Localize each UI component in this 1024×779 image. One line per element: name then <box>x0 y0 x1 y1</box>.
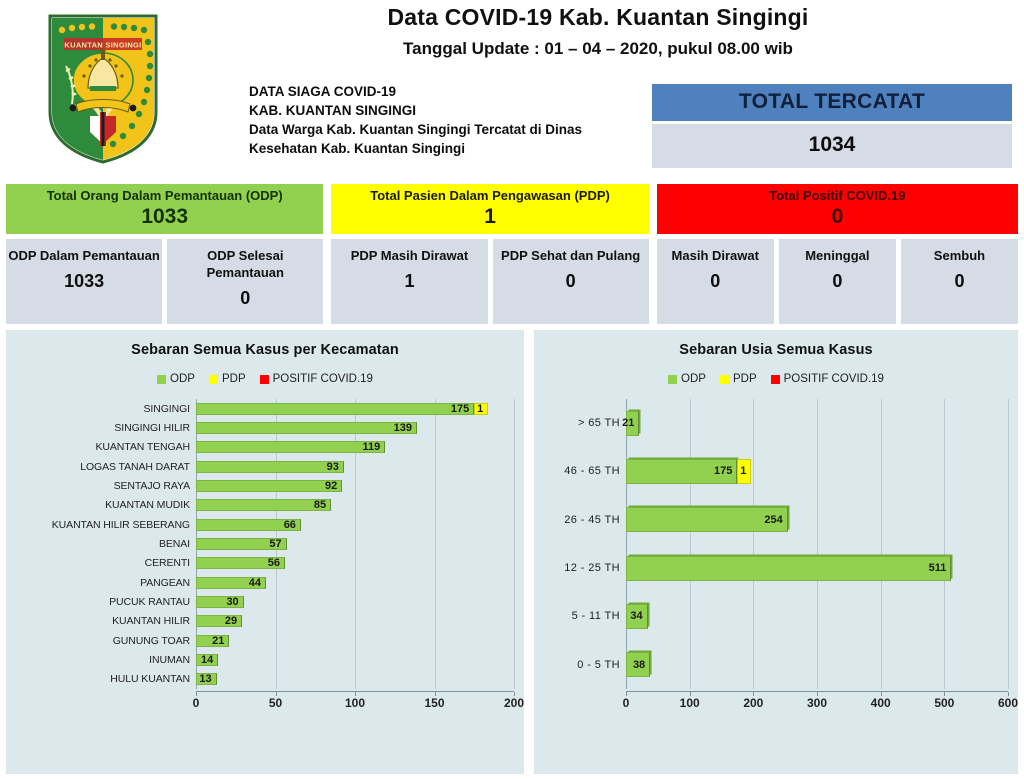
bar-value-label: 57 <box>269 538 281 550</box>
category-label: 26 - 45 TH <box>544 514 626 526</box>
bar-segment-odp: 92 <box>196 480 342 492</box>
sub-label: Meninggal <box>779 248 896 265</box>
kpi-header-odp: Total Orang Dalam Pemantauan (ODP) 1033 <box>6 184 323 234</box>
bar-value-label: 34 <box>630 610 642 622</box>
bar-segment-odp: 13 <box>196 673 217 685</box>
x-tick-label: 0 <box>193 696 200 710</box>
bar-segment-odp: 30 <box>196 596 244 608</box>
bar-value-label: 85 <box>314 499 326 511</box>
bar-row: INUMAN14 <box>16 650 514 669</box>
x-tick-label: 0 <box>623 696 630 710</box>
x-tick-label: 100 <box>680 696 700 710</box>
x-axis-usia: 0100200300400500600 <box>544 691 1008 718</box>
legend-label-pdp: PDP <box>733 373 757 385</box>
category-label: HULU KUANTAN <box>16 673 196 685</box>
bar-value-label: 511 <box>929 562 947 574</box>
legend-swatch-positif-icon <box>771 375 780 384</box>
x-axis-ticks-usia: 0100200300400500600 <box>626 691 1008 718</box>
bar-segment-odp: 254 <box>626 507 788 532</box>
bar-value-label: 29 <box>225 615 237 627</box>
category-label: SENTAJO RAYA <box>16 480 196 492</box>
legend-label-positif: POSITIF COVID.19 <box>273 373 373 385</box>
kpi-group-pdp: Total Pasien Dalam Pengawasan (PDP) 1 PD… <box>331 184 648 324</box>
x-tick-label: 200 <box>743 696 763 710</box>
plot-area-usia: > 65 TH2146 - 65 TH175126 - 45 TH25412 -… <box>544 399 1008 689</box>
description-line-2: KAB. KUANTAN SINGINGI <box>249 101 582 120</box>
x-tick-label: 200 <box>504 696 524 710</box>
category-label: 12 - 25 TH <box>544 562 626 574</box>
bar-segment-odp: 93 <box>196 461 344 473</box>
bar-segment-odp: 66 <box>196 519 301 531</box>
legend-item-positif: POSITIF COVID.19 <box>260 373 373 385</box>
bar-value-label: 1 <box>477 403 483 415</box>
description-line-1: DATA SIAGA COVID-19 <box>249 82 582 101</box>
bar-row: KUANTAN HILIR SEBERANG66 <box>16 515 514 534</box>
kpi-sub-odp-dalam-pemantauan: ODP Dalam Pemantauan 1033 <box>6 239 162 324</box>
bar-track: 21 <box>196 631 514 650</box>
bar-track: 21 <box>626 399 1008 447</box>
bar-row: 0 - 5 TH38 <box>544 641 1008 689</box>
x-tick-label: 50 <box>269 696 282 710</box>
bar-track: 44 <box>196 573 514 592</box>
bar-value-label: 56 <box>268 557 280 569</box>
bar-segment-odp: 85 <box>196 499 331 511</box>
bar-row: GUNUNG TOAR21 <box>16 631 514 650</box>
kpi-pdp-value: 1 <box>335 205 644 229</box>
x-tick-label: 600 <box>998 696 1018 710</box>
x-tick-label: 150 <box>424 696 444 710</box>
bar-track: 139 <box>196 418 514 437</box>
bar-track: 57 <box>196 534 514 553</box>
bar-row: SENTAJO RAYA92 <box>16 476 514 495</box>
bar-track: 29 <box>196 612 514 631</box>
svg-text:KUANTAN SINGINGI: KUANTAN SINGINGI <box>64 41 141 50</box>
kpi-sub-positif-masih-dirawat: Masih Dirawat 0 <box>657 239 774 324</box>
bar-value-label: 44 <box>249 577 261 589</box>
category-label: 46 - 65 TH <box>544 465 626 477</box>
bar-rows-usia: > 65 TH2146 - 65 TH175126 - 45 TH25412 -… <box>544 399 1008 689</box>
bar-segment-odp: 21 <box>196 635 229 647</box>
category-label: BENAI <box>16 538 196 550</box>
kpi-subs-odp: ODP Dalam Pemantauan 1033 ODP Selesai Pe… <box>6 239 323 324</box>
legend-label-odp: ODP <box>681 373 706 385</box>
description-block: DATA SIAGA COVID-19 KAB. KUANTAN SINGING… <box>249 82 582 159</box>
sub-value: 0 <box>901 271 1018 292</box>
sub-label: Masih Dirawat <box>657 248 774 265</box>
bar-track: 14 <box>196 650 514 669</box>
bar-segment-odp: 21 <box>626 411 639 436</box>
chart-title-kecamatan: Sebaran Semua Kasus per Kecamatan <box>16 342 514 358</box>
category-label: PUCUK RANTAU <box>16 596 196 608</box>
kpi-sub-pdp-masih-dirawat: PDP Masih Dirawat 1 <box>331 239 487 324</box>
bar-track: 1751 <box>196 399 514 418</box>
kpi-sub-positif-sembuh: Sembuh 0 <box>901 239 1018 324</box>
bar-track: 30 <box>196 592 514 611</box>
legend-swatch-positif-icon <box>260 375 269 384</box>
category-label: PANGEAN <box>16 577 196 589</box>
bar-segment-pdp: 1 <box>474 403 488 415</box>
kpi-sub-pdp-sehat-dan-pulang: PDP Sehat dan Pulang 0 <box>493 239 649 324</box>
bar-segment-odp: 511 <box>626 556 951 581</box>
category-label: KUANTAN HILIR SEBERANG <box>16 519 196 531</box>
bar-value-label: 21 <box>622 417 634 429</box>
bar-row: 26 - 45 TH254 <box>544 496 1008 544</box>
legend-swatch-odp-icon <box>668 375 677 384</box>
legend-swatch-odp-icon <box>157 375 166 384</box>
bar-row: 5 - 11 TH34 <box>544 592 1008 640</box>
bar-row: > 65 TH21 <box>544 399 1008 447</box>
category-label: LOGAS TANAH DARAT <box>16 461 196 473</box>
bar-track: 13 <box>196 670 514 689</box>
bar-value-label: 21 <box>212 635 224 647</box>
legend-item-pdp: PDP <box>720 373 757 385</box>
bar-value-label: 38 <box>633 659 645 671</box>
kpi-subs-positif: Masih Dirawat 0 Meninggal 0 Sembuh 0 <box>657 239 1018 324</box>
dashboard-header: KUANTAN SINGINGI <box>0 0 1024 178</box>
sub-label: PDP Masih Dirawat <box>331 248 487 265</box>
sub-value: 1033 <box>6 271 162 292</box>
x-tick-label: 100 <box>345 696 365 710</box>
bar-segment-odp: 119 <box>196 441 385 453</box>
bar-value-label: 13 <box>199 673 211 685</box>
chart-panel-usia: Sebaran Usia Semua Kasus ODP PDP POSITIF… <box>534 330 1018 774</box>
bar-row: HULU KUANTAN13 <box>16 670 514 689</box>
kpi-positif-value: 0 <box>661 205 1014 229</box>
bar-segment-pdp: 1 <box>737 459 751 484</box>
bar-row: PUCUK RANTAU30 <box>16 592 514 611</box>
emblem-shield-icon: KUANTAN SINGINGI <box>38 8 168 168</box>
gridline <box>514 399 515 689</box>
sub-label: Sembuh <box>901 248 1018 265</box>
bar-value-label: 92 <box>325 480 337 492</box>
bar-row: SINGINGI HILIR139 <box>16 418 514 437</box>
bar-segment-odp: 29 <box>196 615 242 627</box>
bar-track: 93 <box>196 457 514 476</box>
x-axis-kecamatan: 050100150200 <box>16 691 514 718</box>
kpi-header-pdp: Total Pasien Dalam Pengawasan (PDP) 1 <box>331 184 648 234</box>
bar-track: 34 <box>626 592 1008 640</box>
bar-segment-odp: 175 <box>196 403 474 415</box>
bar-track: 66 <box>196 515 514 534</box>
total-tercatat-panel: TOTAL TERCATAT 1034 <box>652 84 1012 168</box>
category-label: INUMAN <box>16 654 196 666</box>
chart-panel-kecamatan: Sebaran Semua Kasus per Kecamatan ODP PD… <box>6 330 524 774</box>
bar-row: LOGAS TANAH DARAT93 <box>16 457 514 476</box>
bar-row: KUANTAN TENGAH119 <box>16 438 514 457</box>
sub-label: ODP Selesai Pemantauan <box>167 248 323 282</box>
category-label: 5 - 11 TH <box>544 610 626 622</box>
bar-row: SINGINGI1751 <box>16 399 514 418</box>
legend-item-pdp: PDP <box>209 373 246 385</box>
category-label: CERENTI <box>16 557 196 569</box>
update-date-subtitle: Tanggal Update : 01 – 04 – 2020, pukul 0… <box>180 39 1016 59</box>
sub-label: PDP Sehat dan Pulang <box>493 248 649 265</box>
sub-value: 0 <box>167 288 323 309</box>
category-label: KUANTAN TENGAH <box>16 441 196 453</box>
bar-value-label: 93 <box>327 461 339 473</box>
category-label: SINGINGI <box>16 403 196 415</box>
x-axis-ticks-kecamatan: 050100150200 <box>196 691 514 718</box>
chart-legend-usia: ODP PDP POSITIF COVID.19 <box>544 373 1008 385</box>
bar-value-label: 119 <box>362 441 380 453</box>
category-label: SINGINGI HILIR <box>16 422 196 434</box>
bar-value-label: 30 <box>226 596 238 608</box>
bar-value-label: 14 <box>201 654 213 666</box>
bar-value-label: 66 <box>284 519 296 531</box>
bar-track: 85 <box>196 496 514 515</box>
bar-segment-odp: 139 <box>196 422 417 434</box>
bar-segment-odp: 57 <box>196 538 287 550</box>
category-label: GUNUNG TOAR <box>16 635 196 647</box>
x-tick-label: 300 <box>807 696 827 710</box>
bar-value-label: 175 <box>451 403 469 415</box>
bar-track: 56 <box>196 554 514 573</box>
sub-value: 1 <box>331 271 487 292</box>
sub-label: ODP Dalam Pemantauan <box>6 248 162 265</box>
category-label: > 65 TH <box>544 417 626 429</box>
kpi-group-odp: Total Orang Dalam Pemantauan (ODP) 1033 … <box>6 184 323 324</box>
legend-label-positif: POSITIF COVID.19 <box>784 373 884 385</box>
plot-area-kecamatan: SINGINGI1751SINGINGI HILIR139KUANTAN TEN… <box>16 399 514 689</box>
bar-track: 1751 <box>626 447 1008 495</box>
bar-track: 254 <box>626 496 1008 544</box>
bar-segment-odp: 175 <box>626 459 737 484</box>
kpi-odp-value: 1033 <box>10 205 319 229</box>
chart-legend-kecamatan: ODP PDP POSITIF COVID.19 <box>16 373 514 385</box>
total-tercatat-value: 1034 <box>652 124 1012 168</box>
kpi-subs-pdp: PDP Masih Dirawat 1 PDP Sehat dan Pulang… <box>331 239 648 324</box>
chart-title-usia: Sebaran Usia Semua Kasus <box>544 342 1008 358</box>
kuantan-singingi-emblem-logo: KUANTAN SINGINGI <box>38 8 168 168</box>
title-block: Data COVID-19 Kab. Kuantan Singingi Tang… <box>180 4 1016 59</box>
sub-value: 0 <box>493 271 649 292</box>
gridline <box>1008 399 1009 689</box>
bar-segment-odp: 56 <box>196 557 285 569</box>
kpi-pdp-label: Total Pasien Dalam Pengawasan (PDP) <box>335 189 644 204</box>
legend-label-pdp: PDP <box>222 373 246 385</box>
category-label: KUANTAN HILIR <box>16 615 196 627</box>
sub-value: 0 <box>779 271 896 292</box>
kpi-sub-odp-selesai-pemantauan: ODP Selesai Pemantauan 0 <box>167 239 323 324</box>
kpi-positif-label: Total Positif COVID.19 <box>661 189 1014 204</box>
bar-segment-odp: 38 <box>626 652 650 677</box>
bar-row: PANGEAN44 <box>16 573 514 592</box>
kpi-sub-positif-meninggal: Meninggal 0 <box>779 239 896 324</box>
kpi-odp-label: Total Orang Dalam Pemantauan (ODP) <box>10 189 319 204</box>
bar-row: 46 - 65 TH1751 <box>544 447 1008 495</box>
bar-track: 511 <box>626 544 1008 592</box>
kpi-group-positif: Total Positif COVID.19 0 Masih Dirawat 0… <box>657 184 1018 324</box>
bar-track: 38 <box>626 641 1008 689</box>
bar-value-label: 139 <box>394 422 412 434</box>
x-tick-label: 400 <box>871 696 891 710</box>
bar-segment-odp: 44 <box>196 577 266 589</box>
bar-rows-kecamatan: SINGINGI1751SINGINGI HILIR139KUANTAN TEN… <box>16 399 514 689</box>
sub-value: 0 <box>657 271 774 292</box>
page-title: Data COVID-19 Kab. Kuantan Singingi <box>180 4 1016 32</box>
bar-track: 92 <box>196 476 514 495</box>
bar-row: BENAI57 <box>16 534 514 553</box>
kpi-header-positif: Total Positif COVID.19 0 <box>657 184 1018 234</box>
bar-track: 119 <box>196 438 514 457</box>
bar-segment-odp: 34 <box>626 604 648 629</box>
legend-swatch-pdp-icon <box>209 375 218 384</box>
bar-segment-odp: 14 <box>196 654 218 666</box>
legend-label-odp: ODP <box>170 373 195 385</box>
total-tercatat-label: TOTAL TERCATAT <box>652 84 1012 121</box>
bar-row: KUANTAN MUDIK85 <box>16 496 514 515</box>
bar-row: KUANTAN HILIR29 <box>16 612 514 631</box>
description-line-3: Data Warga Kab. Kuantan Singingi Tercata… <box>249 120 582 139</box>
bar-value-label: 1 <box>740 465 746 477</box>
legend-item-odp: ODP <box>157 373 195 385</box>
bar-value-label: 175 <box>714 465 732 477</box>
description-line-4: Kesehatan Kab. Kuantan Singingi <box>249 139 582 158</box>
category-label: 0 - 5 TH <box>544 659 626 671</box>
charts-row: Sebaran Semua Kasus per Kecamatan ODP PD… <box>6 330 1018 774</box>
legend-item-positif: POSITIF COVID.19 <box>771 373 884 385</box>
kpi-row: Total Orang Dalam Pemantauan (ODP) 1033 … <box>6 184 1018 324</box>
bar-row: CERENTI56 <box>16 554 514 573</box>
bar-row: 12 - 25 TH511 <box>544 544 1008 592</box>
bar-value-label: 254 <box>764 514 782 526</box>
legend-swatch-pdp-icon <box>720 375 729 384</box>
x-tick-label: 500 <box>934 696 954 710</box>
legend-item-odp: ODP <box>668 373 706 385</box>
category-label: KUANTAN MUDIK <box>16 499 196 511</box>
